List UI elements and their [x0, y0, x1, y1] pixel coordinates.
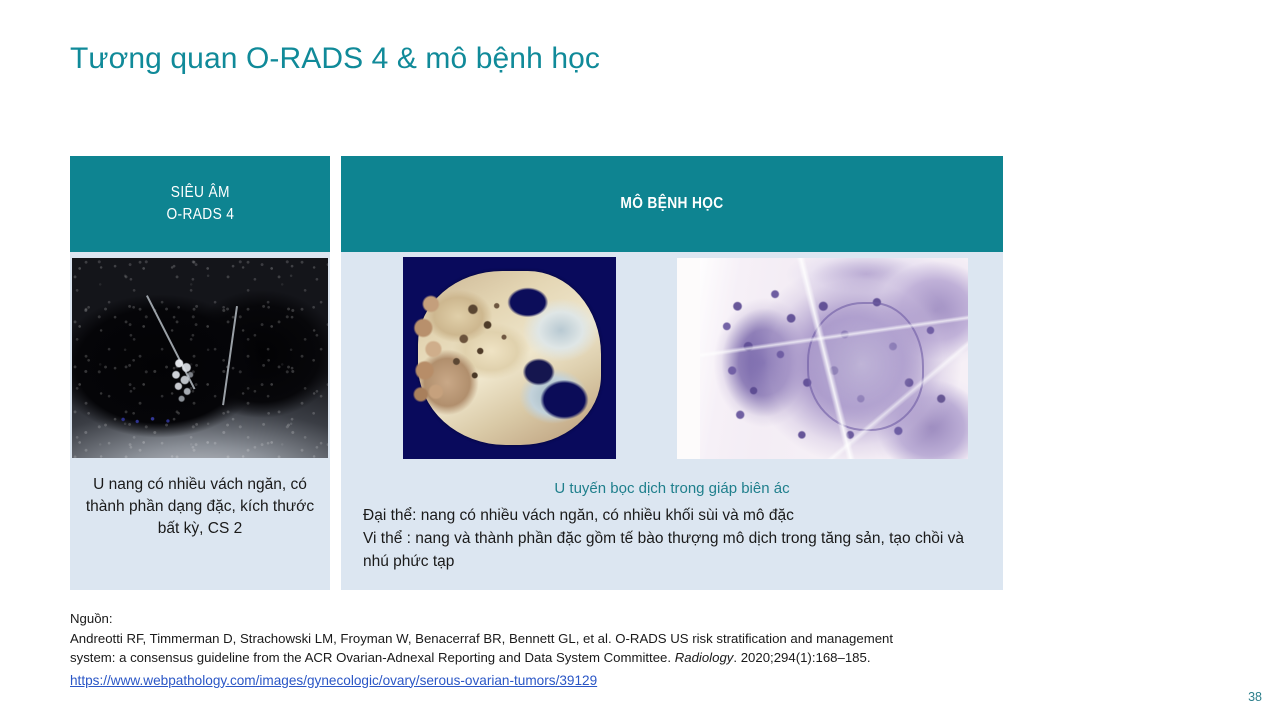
pathology-gross-description: Đại thể: nang có nhiều vách ngăn, có nhi…	[363, 504, 989, 527]
histology-stained-field	[700, 258, 968, 459]
ultrasound-header-line-2: O-RADS 4	[166, 204, 234, 226]
ultrasound-caption: U nang có nhiều vách ngăn, có thành phần…	[76, 474, 324, 540]
histology-tissue-clefts	[700, 258, 968, 459]
ultrasound-panel-header: SIÊU ÂM O-RADS 4	[70, 156, 330, 252]
citation-text-before-journal: system: a consensus guideline from the A…	[70, 650, 675, 665]
gross-specimen-mass	[418, 271, 601, 445]
source-url-link[interactable]: https://www.webpathology.com/images/gyne…	[70, 671, 597, 691]
histology-slide-image	[677, 258, 968, 459]
ultrasound-header-line-1: SIÊU ÂM	[171, 182, 230, 204]
pathology-panel-header: MÔ BỆNH HỌC	[341, 156, 1003, 252]
slide-canvas: Tương quan O-RADS 4 & mô bệnh học SIÊU Â…	[0, 0, 1280, 720]
citation-text-after-journal: . 2020;294(1):168–185.	[733, 650, 870, 665]
transvaginal-ultrasound-image	[72, 258, 328, 458]
ultrasound-panel: SIÊU ÂM O-RADS 4 U nang có nhiều vách ng…	[70, 156, 330, 590]
ultrasound-color-doppler-dots	[118, 414, 182, 426]
page-title: Tương quan O-RADS 4 & mô bệnh học	[70, 42, 1070, 76]
page-number: 38	[1248, 690, 1262, 704]
citation-line-2: system: a consensus guideline from the A…	[70, 648, 1150, 668]
gross-specimen-papillary-excrescences	[412, 288, 474, 420]
pathology-microscopic-description: Vi thể : nang và thành phần đặc gồm tế b…	[363, 527, 989, 573]
pathology-details: Đại thể: nang có nhiều vách ngăn, có nhi…	[363, 504, 989, 573]
source-block: Nguồn: Andreotti RF, Timmerman D, Strach…	[70, 609, 1150, 690]
citation-line-1: Andreotti RF, Timmerman D, Strachowski L…	[70, 629, 1150, 649]
citation-journal-name: Radiology	[675, 650, 734, 665]
gross-specimen-image	[403, 257, 616, 459]
pathology-header-label: MÔ BỆNH HỌC	[620, 193, 723, 215]
ultrasound-solid-nodule	[164, 354, 204, 406]
source-label: Nguồn:	[70, 609, 1150, 629]
pathology-diagnosis: U tuyến bọc dịch trong giáp biên ác	[341, 480, 1003, 497]
pathology-panel: MÔ BỆNH HỌC U tuyến bọc dịch trong giáp …	[341, 156, 1003, 590]
